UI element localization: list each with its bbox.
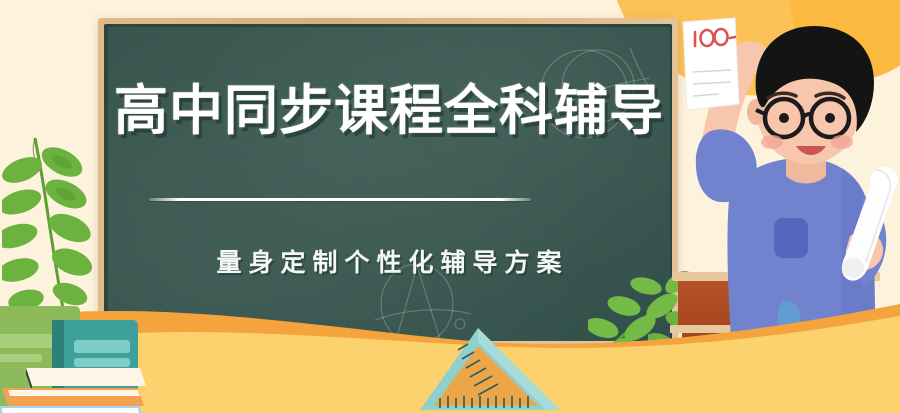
cream-book [26, 368, 146, 386]
page-subtitle: 量身定制个性化辅导方案 [108, 243, 670, 279]
page-title: 高中同步课程全科辅导 [108, 80, 670, 142]
stacked-books-icon [0, 296, 178, 413]
triangle-ruler-icon [418, 326, 563, 413]
title-divider [149, 198, 531, 201]
exam-paper-icon [679, 16, 741, 114]
course-promo-banner: 高中同步课程全科辅导 量身定制个性化辅导方案 [0, 0, 900, 413]
shirt-pocket [774, 218, 808, 258]
